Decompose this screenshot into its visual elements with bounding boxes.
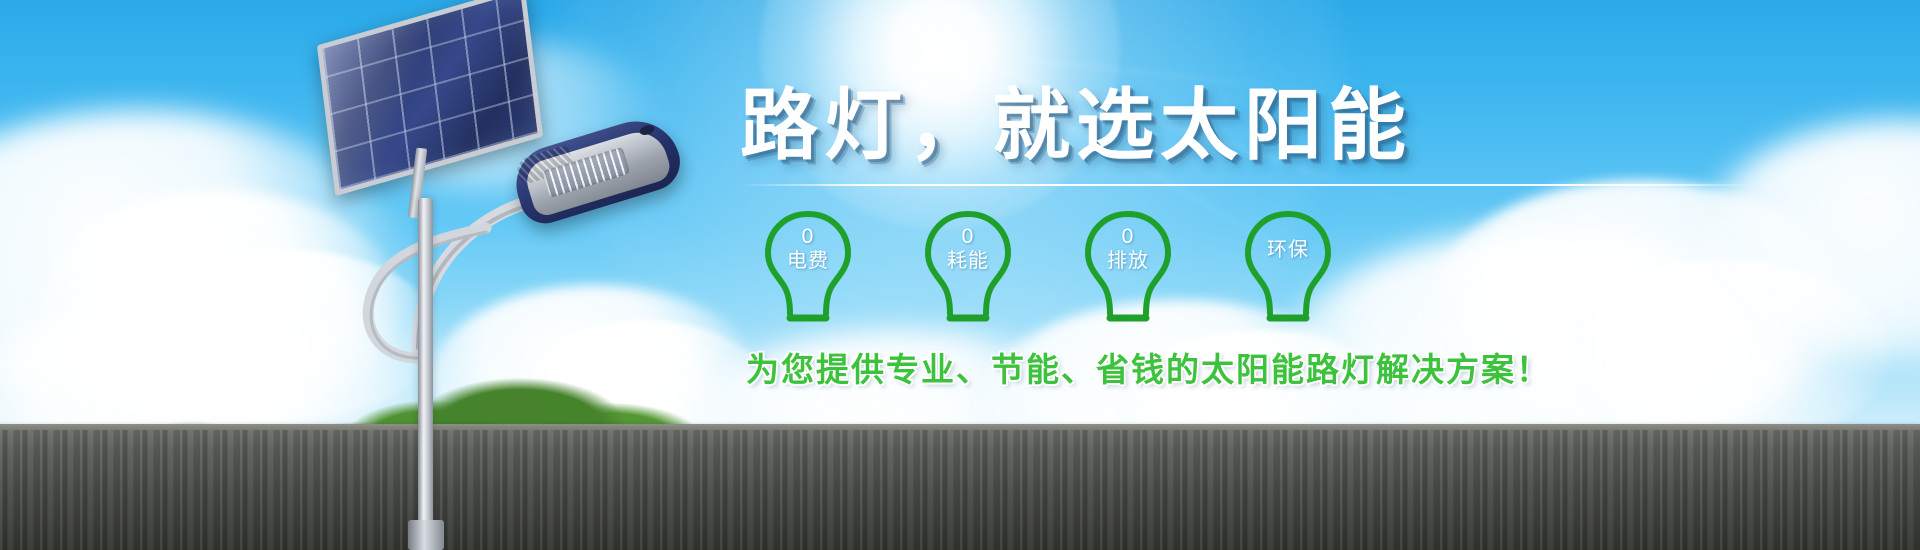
feature-badge-2: 0 排放 xyxy=(1082,208,1174,324)
feature-badge-list: 0 电费 0 耗能 0 xyxy=(740,208,1800,324)
feature-badge-3: 环保 xyxy=(1242,208,1334,324)
feature-badge-value: 0 xyxy=(762,224,854,249)
feature-badge-1: 0 耗能 xyxy=(922,208,1014,324)
lamp-pole-base xyxy=(408,520,444,550)
feature-badge-text: 0 排放 xyxy=(1082,224,1174,274)
banner-subtitle: 为您提供专业、节能、省钱的太阳能路灯解决方案！ xyxy=(740,350,1800,390)
feature-badge-text: 0 耗能 xyxy=(922,224,1014,274)
feature-badge-text: 环保 xyxy=(1242,238,1334,263)
feature-badge-label: 耗能 xyxy=(947,250,989,272)
light-bulb-icon xyxy=(1242,208,1334,324)
solar-street-light-icon xyxy=(300,8,720,550)
feature-badge-text: 0 电费 xyxy=(762,224,854,274)
page-title: 路灯，就选太阳能 xyxy=(740,86,1800,164)
lamp-pole xyxy=(418,198,433,550)
feature-badge-label: 排放 xyxy=(1107,250,1149,272)
feature-badge-label: 环保 xyxy=(1267,239,1309,261)
feature-badge-value: 0 xyxy=(1082,224,1174,249)
banner-copy: 路灯，就选太阳能 0 电费 0 耗能 xyxy=(740,86,1800,390)
feature-badge-label: 电费 xyxy=(787,250,829,272)
feature-badge-0: 0 电费 xyxy=(762,208,854,324)
tiled-wall-icon xyxy=(0,430,1920,550)
headline-divider xyxy=(740,184,1760,186)
feature-badge-value: 0 xyxy=(922,224,1014,249)
solar-street-light-banner: 路灯，就选太阳能 0 电费 0 耗能 xyxy=(0,0,1920,550)
